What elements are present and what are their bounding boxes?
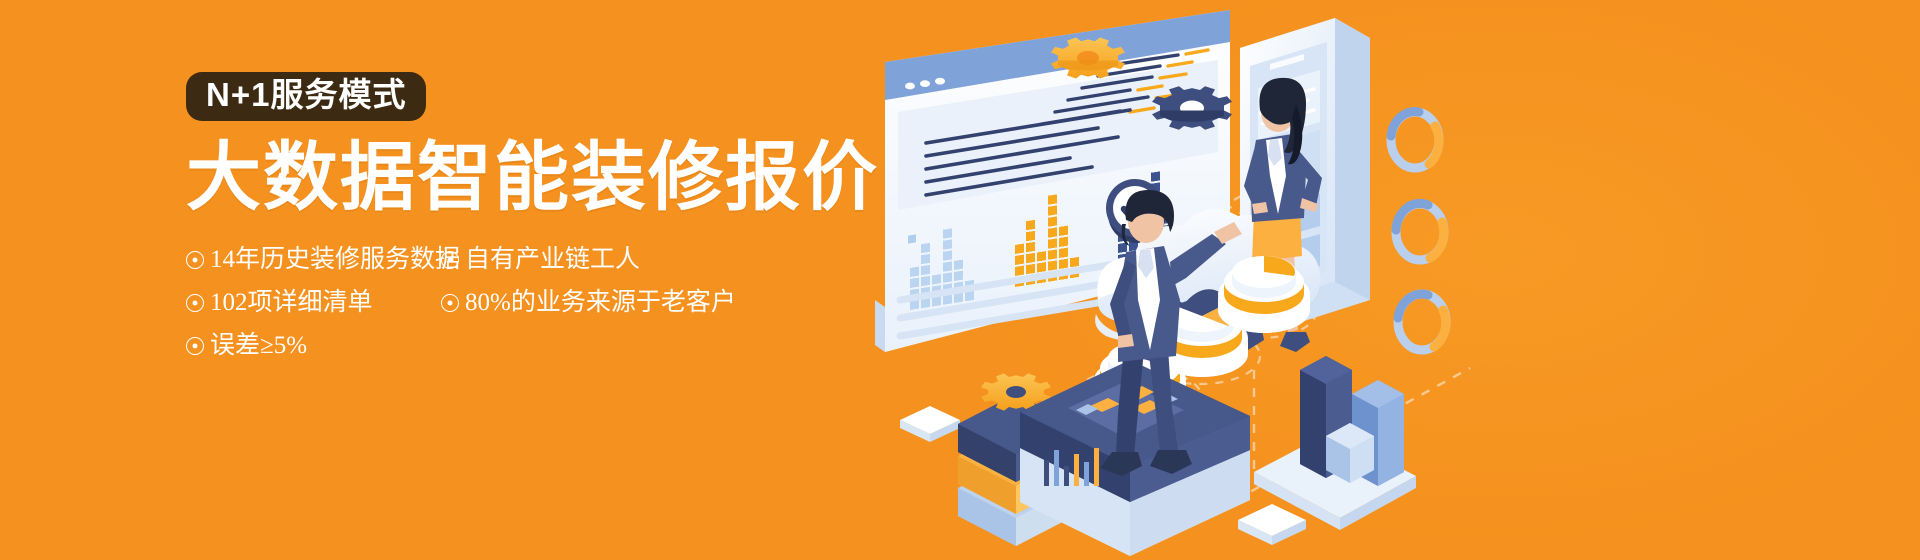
list-item: 自有产业链工人: [441, 246, 726, 274]
bullet-column-right: 自有产业链工人 80%的业务来源于老客户: [441, 246, 726, 360]
promo-banner: N+1服务模式 大数据智能装修报价 14年历史装修服务数据 102项详细清单 误…: [0, 0, 1920, 560]
circled-dot-icon: [186, 337, 204, 355]
bullet-label: 102项详细清单: [210, 289, 373, 317]
copy-block: N+1服务模式 大数据智能装修报价 14年历史装修服务数据 102项详细清单 误…: [186, 72, 886, 360]
bullet-label: 80%的业务来源于老客户: [465, 289, 736, 317]
circled-dot-icon: [441, 251, 459, 269]
bullet-label: 自有产业链工人: [465, 246, 640, 274]
headline: 大数据智能装修报价: [186, 137, 886, 218]
circled-dot-icon: [186, 251, 204, 269]
bar-chart-blocks: [1254, 356, 1416, 530]
feature-bullets: 14年历史装修服务数据 102项详细清单 误差≥5% 自有产业链工人: [186, 246, 726, 360]
bullet-label: 14年历史装修服务数据: [210, 246, 460, 274]
progress-rings: [1391, 112, 1446, 350]
list-item: 误差≥5%: [186, 332, 441, 360]
list-item: 102项详细清单: [186, 289, 441, 317]
circled-dot-icon: [441, 294, 459, 312]
bullet-column-left: 14年历史装修服务数据 102项详细清单 误差≥5%: [186, 246, 441, 360]
bullet-label: 误差≥5%: [210, 332, 307, 360]
list-item: 14年历史装修服务数据: [186, 246, 441, 274]
isometric-big-data-illustration: [830, 0, 1920, 560]
list-item: 80%的业务来源于老客户: [441, 289, 726, 317]
circled-dot-icon: [186, 294, 204, 312]
service-model-badge: N+1服务模式: [186, 72, 426, 121]
